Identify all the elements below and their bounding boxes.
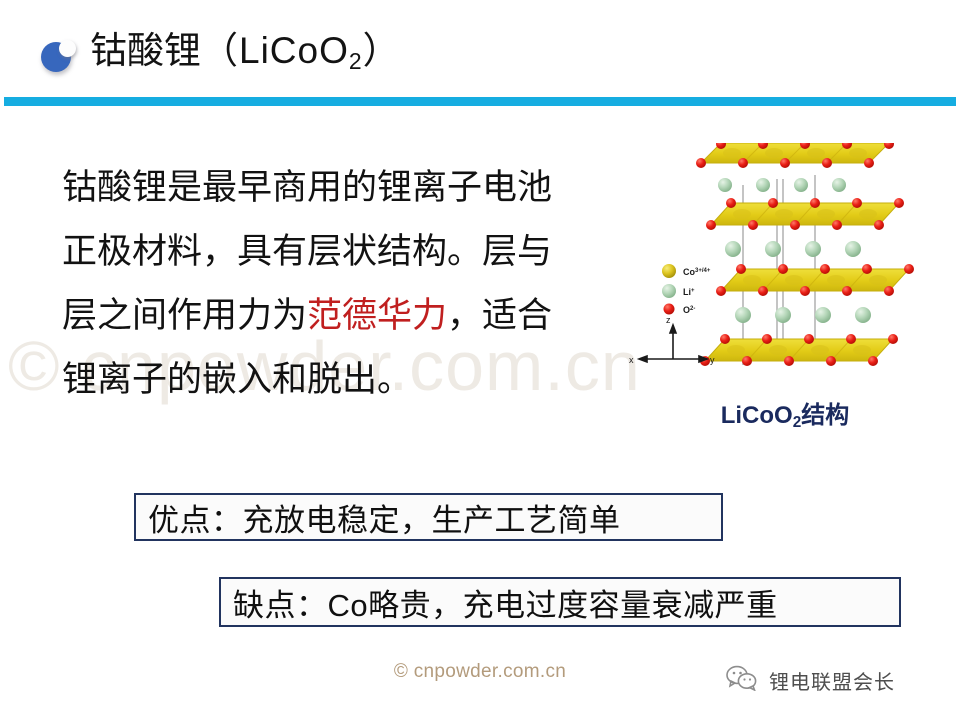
legend-swatch-co: [662, 264, 676, 278]
coo2-layer: [706, 198, 904, 230]
page-title: 钴酸锂（LiCoO2）: [90, 26, 401, 80]
lithium-ion-row: [725, 241, 861, 257]
lithium-ion-row: [735, 307, 871, 323]
cons-text: 缺点：Co略贵，充电过度容量衰减严重: [221, 580, 790, 625]
legend-label-co: Co3+/4+: [683, 267, 711, 277]
axis-indicator: z y x: [629, 315, 715, 365]
figure-caption-pre: LiCoO: [721, 402, 793, 429]
lithium-ion-row: [718, 178, 846, 192]
body-highlight-term: 范德华力: [307, 296, 447, 335]
figure-caption-post: 结构: [801, 402, 849, 429]
header-accent-bar: [4, 97, 956, 106]
licoo2-structure-figure: Co3+/4+ Li+ O2- z y x LiCoO2结构: [625, 143, 945, 433]
legend-swatch-o: [664, 304, 675, 315]
axis-label-x: x: [629, 355, 634, 365]
axis-label-y: y: [710, 355, 715, 365]
pros-box: 优点：充放电稳定，生产工艺简单: [134, 493, 723, 541]
body-paragraph: 钴酸锂是最早商用的锂离子电池 正极材料，具有层状结构。层与 层之间作用力为范德华…: [62, 156, 622, 412]
page-title-cn: 钴酸锂: [90, 30, 201, 71]
figure-legend: Co3+/4+ Li+ O2-: [662, 264, 711, 315]
cons-box: 缺点：Co略贵，充电过度容量衰减严重: [219, 577, 901, 627]
coo2-layer: [696, 143, 894, 168]
page-title-formula: （LiCoO2）: [201, 30, 401, 71]
figure-caption: LiCoO2结构: [625, 395, 945, 430]
legend-label-li: Li+: [683, 287, 695, 297]
footer-brand: 锂电联盟会长: [726, 663, 895, 697]
bullet-small-dot: [59, 40, 76, 57]
body-line-3-post: ，适合: [447, 296, 552, 335]
coo2-layer: [716, 264, 914, 296]
wechat-icon: [726, 665, 760, 696]
body-line-2: 正极材料，具有层状结构。层与: [62, 220, 622, 284]
figure-caption-subscript: 2: [793, 414, 802, 431]
slide-header: 钴酸锂（LiCoO2）: [0, 0, 960, 97]
axis-label-z: z: [666, 315, 671, 325]
body-line-3-pre: 层之间作用力为: [62, 296, 307, 335]
formula-close: ）: [363, 30, 401, 71]
legend-label-o: O2-: [683, 305, 695, 315]
legend-swatch-li: [662, 284, 676, 298]
formula-subscript: 2: [349, 48, 363, 74]
coo2-layer: [700, 334, 898, 366]
slide-canvas: 钴酸锂（LiCoO2） © cnpowder.com.cn 钴酸锂是最早商用的锂…: [0, 0, 960, 720]
body-line-1: 钴酸锂是最早商用的锂离子电池: [62, 156, 622, 220]
body-line-3: 层之间作用力为范德华力，适合: [62, 284, 622, 348]
body-line-4: 锂离子的嵌入和脱出。: [62, 348, 622, 412]
blue-circle-bullet-icon: [39, 38, 87, 76]
coo2-layer-stack: [696, 143, 914, 366]
pros-text: 优点：充放电稳定，生产工艺简单: [136, 495, 633, 540]
crystal-structure-diagram: Co3+/4+ Li+ O2- z y x: [625, 143, 945, 393]
formula-open: （LiCoO: [201, 30, 349, 71]
footer-brand-label: 锂电联盟会长: [769, 666, 895, 695]
